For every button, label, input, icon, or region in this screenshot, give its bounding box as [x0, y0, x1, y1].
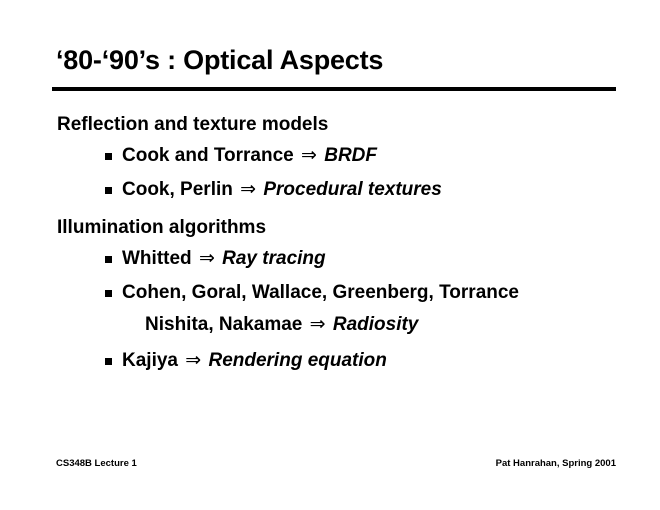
footer-course-label: CS348B Lecture 1	[56, 458, 137, 469]
section-heading-illumination: Illumination algorithms	[0, 213, 660, 246]
bullet-square-icon	[105, 153, 112, 160]
title-underline-rule	[52, 87, 616, 91]
bullet-continuation-line: Nishita, Nakamae ⇒ Radiosity	[0, 312, 660, 338]
bullet-result: Ray tracing	[222, 248, 325, 269]
bullet-result: BRDF	[324, 145, 377, 166]
bullet-authors: Cook and Torrance	[122, 145, 294, 166]
implies-arrow-icon: ⇒	[299, 145, 319, 166]
section-heading-reflection: Reflection and texture models	[0, 110, 660, 143]
slide: ‘80-‘90’s : Optical Aspects Reflection a…	[0, 0, 660, 510]
implies-arrow-icon: ⇒	[197, 248, 217, 269]
bullet-authors: Cohen, Goral, Wallace, Greenberg, Torran…	[122, 282, 519, 303]
bullet-item: Kajiya ⇒ Rendering equation	[0, 348, 660, 374]
bullet-square-icon	[105, 187, 112, 194]
footer-author-label: Pat Hanrahan, Spring 2001	[496, 458, 616, 469]
bullet-result: Procedural textures	[263, 179, 441, 200]
bullet-result: Rendering equation	[208, 350, 386, 371]
bullet-item: Cohen, Goral, Wallace, Greenberg, Torran…	[0, 280, 660, 306]
bullet-authors: Kajiya	[122, 350, 178, 371]
bullet-square-icon	[105, 358, 112, 365]
bullet-square-icon	[105, 256, 112, 263]
bullet-item: Cook and Torrance ⇒ BRDF	[0, 143, 660, 169]
implies-arrow-icon: ⇒	[308, 314, 328, 335]
implies-arrow-icon: ⇒	[238, 179, 258, 200]
slide-body: Reflection and texture models Cook and T…	[0, 110, 660, 374]
implies-arrow-icon: ⇒	[183, 350, 203, 371]
bullet-item: Cook, Perlin ⇒ Procedural textures	[0, 177, 660, 203]
bullet-square-icon	[105, 290, 112, 297]
continuation-authors: Nishita, Nakamae	[145, 314, 302, 335]
continuation-result: Radiosity	[333, 314, 419, 335]
bullet-authors: Whitted	[122, 248, 192, 269]
slide-title: ‘80-‘90’s : Optical Aspects	[56, 44, 383, 76]
bullet-item: Whitted ⇒ Ray tracing	[0, 246, 660, 272]
bullet-authors: Cook, Perlin	[122, 179, 233, 200]
